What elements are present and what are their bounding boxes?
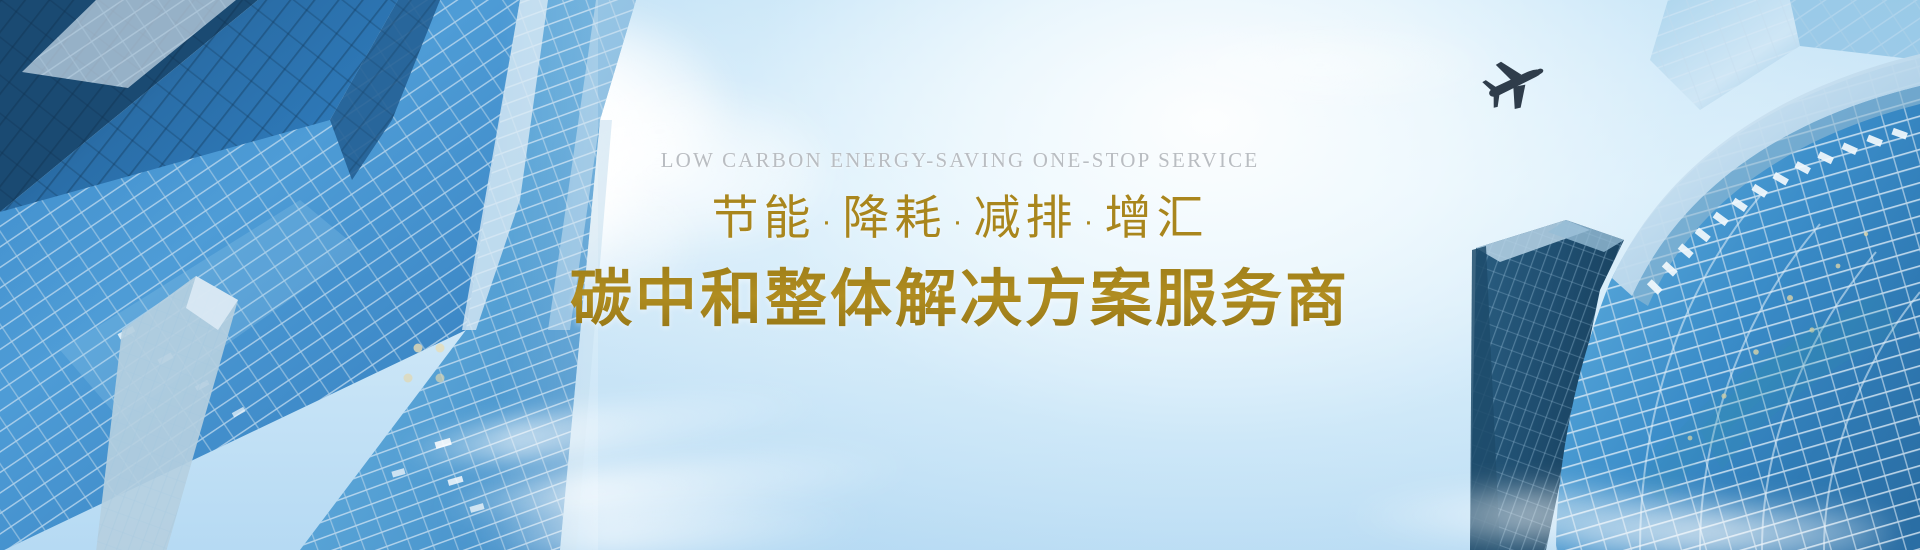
eyebrow-tagline: LOW CARBON ENERGY-SAVING ONE-STOP SERVIC… [0, 146, 1920, 174]
cloud-wisp-top-right [1150, 30, 1490, 100]
subline-item-2: 降耗 [843, 191, 947, 244]
subline-separator-3: · [1078, 205, 1105, 238]
headline-title: 碳中和整体解决方案服务商 [0, 258, 1920, 342]
subline-item-1: 节能 [712, 191, 816, 244]
hero-text-block: LOW CARBON ENERGY-SAVING ONE-STOP SERVIC… [0, 146, 1920, 342]
cloud-wisp-lower-left-1 [399, 380, 821, 477]
cloud-wisp-lower-left-2 [439, 440, 912, 533]
subline-separator-2: · [947, 205, 974, 238]
airplane-icon [1479, 55, 1551, 111]
subline-separator-1: · [816, 205, 843, 238]
cloud-wisp-lower-left-3 [469, 498, 871, 550]
subline-item-4: 增汇 [1105, 191, 1209, 244]
building-right-spire [1650, 0, 1920, 110]
cloud-wisp-lower-right-1 [1340, 490, 1760, 540]
cloud-top-left [0, 0, 320, 140]
subline-keywords: 节能·降耗·减排·增汇 [0, 188, 1920, 252]
cloud-wisp-lower-right-2 [1560, 505, 1890, 550]
subline-item-3: 减排 [974, 191, 1078, 244]
hero-banner: LOW CARBON ENERGY-SAVING ONE-STOP SERVIC… [0, 0, 1920, 550]
